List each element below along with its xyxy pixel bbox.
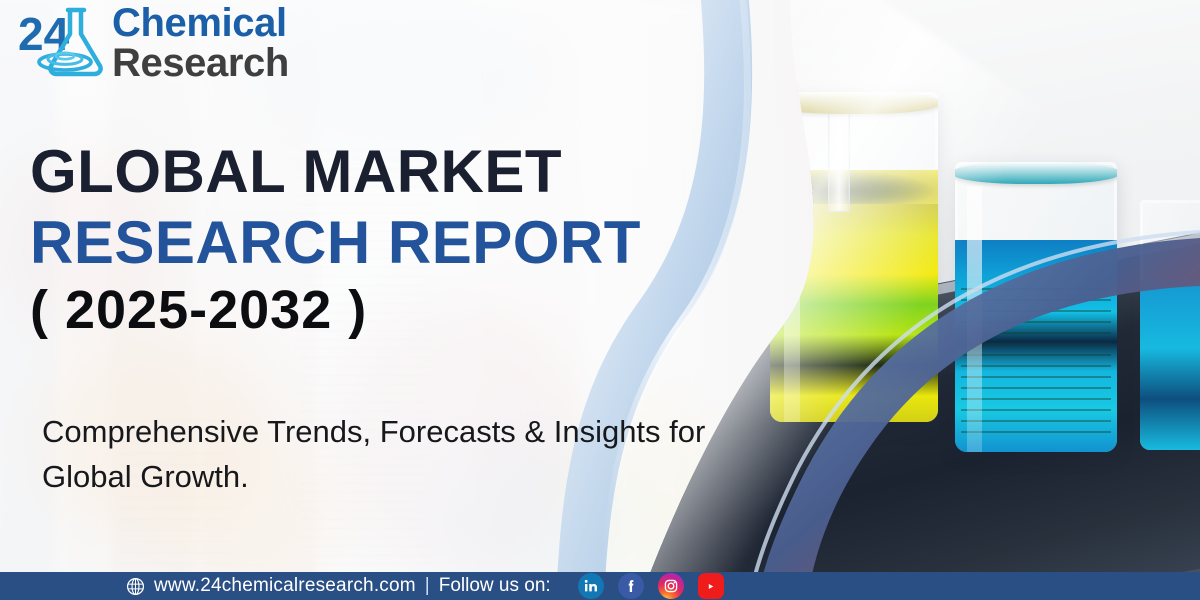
footer-follow-label: Follow us on: xyxy=(439,575,551,597)
instagram-icon[interactable] xyxy=(658,573,684,599)
flask-droplet-icon: 24 xyxy=(18,4,114,82)
facebook-icon[interactable] xyxy=(618,573,644,599)
banner: 24 Chemical Research GLOBAL MARKET RESEA… xyxy=(0,0,1200,600)
logo-text-research: Research xyxy=(112,44,289,82)
brand-logo[interactable]: 24 Chemical Research xyxy=(18,4,289,83)
beaker-far-right xyxy=(1140,200,1200,450)
footer-website-url[interactable]: www.24chemicalresearch.com xyxy=(154,575,416,597)
headline-year-range: ( 2025-2032 ) xyxy=(30,282,690,339)
logo-text-chemical: Chemical xyxy=(112,4,289,42)
linkedin-icon[interactable] xyxy=(578,573,604,599)
headline-line-1: GLOBAL MARKET xyxy=(30,140,690,203)
page-title: GLOBAL MARKET RESEARCH REPORT ( 2025-203… xyxy=(30,140,690,339)
subheadline: Comprehensive Trends, Forecasts & Insigh… xyxy=(42,410,722,500)
footer-separator: | xyxy=(425,575,430,597)
youtube-icon[interactable] xyxy=(698,573,724,599)
headline-line-2: RESEARCH REPORT xyxy=(30,211,690,274)
social-links xyxy=(578,573,724,599)
globe-icon xyxy=(126,577,145,596)
footer-bar: www.24chemicalresearch.com | Follow us o… xyxy=(0,572,1200,600)
